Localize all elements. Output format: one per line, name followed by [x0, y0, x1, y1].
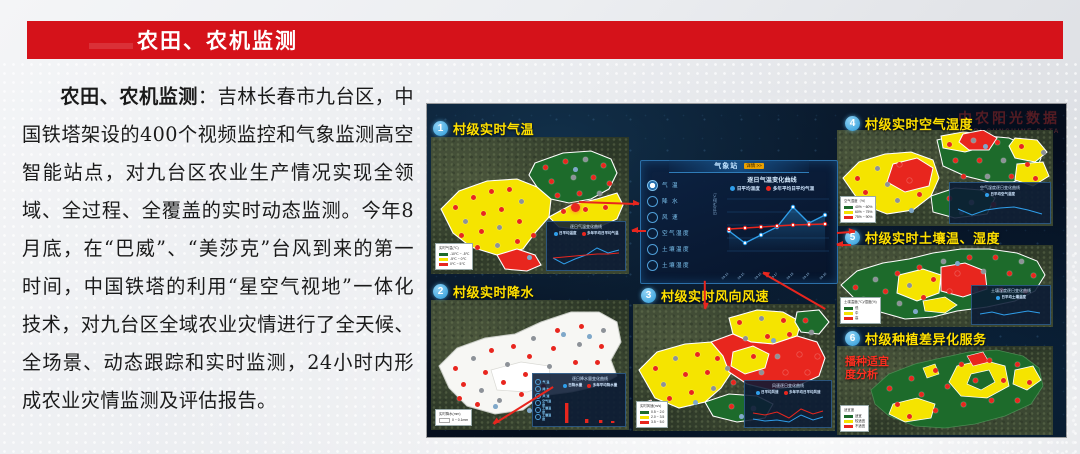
section-badge-1: 1	[433, 121, 448, 136]
radio-label: 风 速	[662, 213, 679, 221]
radio-icon[interactable]	[647, 260, 658, 271]
radio-label: 土壤温度	[662, 245, 690, 253]
section-label-4: 村级实时空气湿度	[865, 114, 973, 133]
mini-chart-5: 土壤湿度逐日变化曲线 日平均土壤湿度	[971, 285, 1051, 325]
weather-station-title: 气象站	[714, 161, 738, 171]
section-header-2: 2 村级实时降水	[433, 282, 534, 301]
map-panel-3-wind[interactable]: 实时风速(m/s) 0.5 ~ 2.0 2.0 ~ 3.5 3.5 ~ 5.0 …	[633, 304, 835, 431]
map-panel-5-soil[interactable]: 土壤温度(℃)/湿度(%) 低 中 高 土壤湿度逐日变化曲线 日平均土壤湿度	[837, 245, 1053, 327]
slide-title-bar: 农田、农机监测	[27, 21, 1063, 59]
weather-station-detail-chip[interactable]: 详情 >>	[744, 163, 764, 169]
radio-row-0[interactable]: 气 温	[647, 177, 709, 193]
map-legend-3-row: 3.5 ~ 5.0	[651, 420, 664, 425]
map-legend-6: 适宜度 适宜 较适宜 不适宜	[840, 405, 869, 432]
radio-label: 气 温	[662, 181, 679, 189]
map-legend-1-title: 实时气温(℃)	[439, 246, 469, 251]
mini-chart-5-plot	[972, 304, 1050, 324]
mini-chart-2-legend-item: 多年平均降水量	[593, 383, 618, 388]
radio-row-4[interactable]: 土壤温度	[647, 241, 709, 257]
mini-chart-5-legend-item: 日平均土壤湿度	[1002, 295, 1027, 300]
section-label-3: 村级实时风向风速	[661, 286, 769, 305]
map-legend-1-row: 0℃ ~ 5℃	[450, 262, 465, 267]
map-legend-4-row: 75% ~ 90%	[855, 215, 872, 220]
mini-chart-3-legend-item: 日平均风速	[761, 390, 779, 395]
map-legend-2-title: 实时降水(mm)	[439, 412, 468, 417]
map-legend-4-title: 空气湿度（%）	[844, 199, 872, 204]
map-legend-3-title: 实时风速(m/s)	[640, 404, 664, 409]
mini-chart-3: 风速逐日变化曲线 日平均风速 多年平均日平均风速	[744, 380, 832, 428]
mini-chart-1-legend-item: 日平均温度	[559, 231, 577, 236]
map-legend-5-row: 高	[855, 316, 858, 321]
map-legend-5: 土壤温度(℃)/湿度(%) 低 中 高	[840, 297, 881, 324]
section-label-1: 村级实时气温	[453, 119, 534, 138]
connector-arrow-module-to-panel5	[837, 244, 851, 246]
mini-chart-1-title: 逐日气温变化曲线	[547, 224, 625, 230]
map-panel-1-temperature[interactable]: 实时气温(℃) -10℃ ~ -5℃ -5℃ ~ 0℃ 0℃ ~ 5℃ 逐日气温…	[431, 137, 629, 274]
map-legend-6-title: 适宜度	[844, 408, 865, 413]
mini-chart-1-legend-item: 多年平均日平均气温	[587, 231, 619, 236]
map-panel-2-precipitation[interactable]: 实时降水(mm) 0 ~ 0.1mm 逐日降水量变化曲线 日降水量 多年平均降水…	[431, 300, 629, 430]
section-header-4: 4 村级实时空气湿度	[845, 114, 973, 133]
section-badge-2: 2	[433, 284, 448, 299]
mini-chart-3-legend-item: 多年平均日平均风速	[789, 390, 821, 395]
mini-chart-2-title: 逐日降水量变化曲线	[555, 376, 625, 382]
radio-row-3[interactable]: 空气湿度	[647, 225, 709, 241]
mini-chart-3-title: 风速逐日变化曲线	[745, 383, 831, 389]
mini-chart-4-legend-item: 日平均空气湿度	[991, 192, 1016, 197]
section-badge-3: 3	[641, 288, 656, 303]
main-chart-title: 逐日气温变化曲线	[713, 175, 831, 184]
section-badge-4: 4	[845, 116, 860, 131]
mini-chart-4-plot	[950, 201, 1050, 223]
page-title: 农田、农机监测	[137, 25, 298, 55]
selected-station-marker[interactable]	[571, 203, 580, 212]
map-legend-1: 实时气温(℃) -10℃ ~ -5℃ -5℃ ~ 0℃ 0℃ ~ 5℃	[435, 243, 473, 270]
metric-radio-group[interactable]: 气 温 降 水 风 速 空气湿度 土壤温度	[647, 177, 709, 273]
radio-icon[interactable]	[647, 180, 658, 191]
section-label-2: 村级实时降水	[453, 282, 534, 301]
section-header-1: 1 村级实时气温	[433, 119, 534, 138]
mini-chart-1-plot	[547, 242, 625, 270]
x-tick: 03-19	[802, 272, 811, 281]
body-paragraph: 农田、农机监测：吉林长春市九台区，中国铁塔架设的400个视频监控和气象监测高空智…	[22, 78, 414, 420]
x-tick: 03-18	[786, 272, 795, 281]
weather-station-module[interactable]: 气象站 详情 >> 气 温 降 水 风 速 空气湿度	[640, 160, 838, 284]
x-tick: 03-20	[819, 272, 828, 281]
x-tick: 03-15	[737, 272, 746, 281]
mini-chart-1: 逐日气温变化曲线 日平均温度 多年平均日平均气温	[546, 221, 626, 271]
radio-icon[interactable]	[647, 244, 658, 255]
mini-chart-4-title: 空气湿度逐日变化曲线	[950, 185, 1050, 191]
map-legend-6-row: 不适宜	[855, 424, 865, 429]
radio-label: 空气湿度	[662, 229, 690, 237]
radio-row-2[interactable]: 风 速	[647, 209, 709, 225]
radio-label: 土壤湿度	[662, 261, 690, 269]
main-chart-plot-area	[719, 191, 831, 263]
mini-chart-2: 逐日降水量变化曲线 日降水量 多年平均降水量 气 温 降 水 风 速 空气湿度 …	[532, 373, 626, 427]
dashboard-screenshot: 中农阳光数据 SUNAGRI SUNSHINE DATA 1 村级实时气温	[427, 104, 1066, 437]
radio-row-5[interactable]: 土壤湿度	[647, 257, 709, 273]
main-line-chart: 逐日气温变化曲线 日平均温度 多年平均日平均气温 日平均气温(℃)	[713, 175, 831, 279]
panel-6-overlay-text: 播种适宜 度分析	[845, 356, 889, 382]
map-legend-4: 空气湿度（%） 40% ~ 60% 60% ~ 75% 75% ~ 90%	[840, 196, 876, 223]
mini-chart-4: 空气湿度逐日变化曲线 日平均空气湿度	[949, 182, 1051, 224]
map-legend-2-row: 0 ~ 0.1mm	[452, 418, 468, 423]
map-legend-5-title: 土壤温度(℃)/湿度(%)	[844, 300, 877, 305]
section-badge-6: 6	[845, 331, 860, 346]
section-header-6: 6 村级种植差异化服务	[845, 329, 987, 348]
map-panel-6-planting[interactable]: 播种适宜 度分析 适宜度 适宜 较适宜 不适宜	[837, 346, 1053, 435]
map-panel-4-air-humidity[interactable]: 空气湿度（%） 40% ~ 60% 60% ~ 75% 75% ~ 90% 空气…	[837, 130, 1053, 226]
weather-station-header: 气象站 详情 >>	[669, 160, 809, 173]
map-legend-2: 实时降水(mm) 0 ~ 0.1mm	[435, 409, 472, 426]
mini-chart-3-plot	[745, 401, 831, 427]
map-legend-3: 实时风速(m/s) 0.5 ~ 2.0 2.0 ~ 3.5 3.5 ~ 5.0	[636, 401, 668, 428]
main-chart-y-axis-label: 日平均气温(℃)	[712, 193, 717, 215]
title-decoration	[89, 43, 133, 49]
connector-arrow-module-left	[632, 230, 646, 232]
section-header-5: 5 村级实时土壤温、湿度	[845, 228, 1000, 247]
section-label-6: 村级种植差异化服务	[865, 329, 987, 348]
mini-chart-2-plot	[555, 399, 623, 425]
mini-chart-5-title: 土壤湿度逐日变化曲线	[972, 288, 1050, 294]
radio-icon[interactable]	[647, 196, 658, 207]
mini-chart-2-legend-item: 日降水量	[568, 383, 582, 388]
radio-row-1[interactable]: 降 水	[647, 193, 709, 209]
section-label-5: 村级实时土壤温、湿度	[865, 228, 1000, 247]
x-tick: 03-14	[721, 272, 730, 281]
radio-icon[interactable]	[647, 228, 658, 239]
radio-icon[interactable]	[647, 212, 658, 223]
radio-label: 降 水	[662, 197, 679, 205]
slide-root: 农田、农机监测 农田、农机监测：吉林长春市九台区，中国铁塔架设的400个视频监控…	[0, 0, 1080, 454]
connector-arrow-panel3	[704, 281, 706, 309]
